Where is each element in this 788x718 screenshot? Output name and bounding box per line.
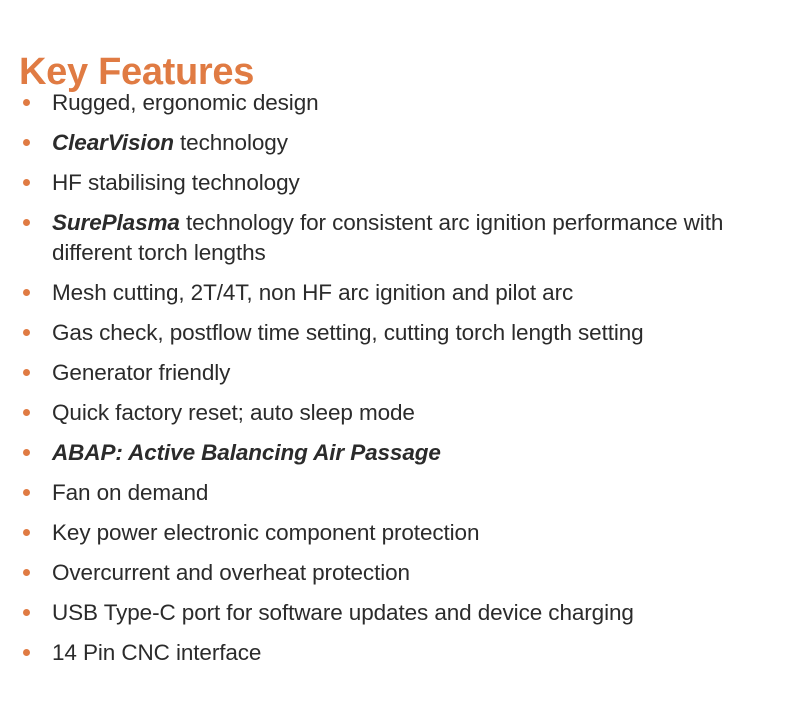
feature-list: Rugged, ergonomic designClearVision tech…	[19, 88, 779, 668]
list-item: Rugged, ergonomic design	[19, 88, 779, 118]
bullet-dot-icon	[23, 409, 30, 416]
list-item-label: ABAP: Active Balancing Air Passage	[52, 438, 779, 468]
list-item-label: HF stabilising technology	[52, 168, 779, 198]
bullet-dot-icon	[23, 449, 30, 456]
list-item-emphasis: SurePlasma	[52, 210, 180, 235]
list-item-label: Overcurrent and overheat protection	[52, 558, 779, 588]
bullet-dot-icon	[23, 569, 30, 576]
list-item: SurePlasma technology for consistent arc…	[19, 208, 779, 268]
bullet-dot-icon	[23, 219, 30, 226]
bullet-dot-icon	[23, 99, 30, 106]
list-item-label: Quick factory reset; auto sleep mode	[52, 398, 779, 428]
list-item: Fan on demand	[19, 478, 779, 508]
bullet-dot-icon	[23, 179, 30, 186]
list-item-label: Rugged, ergonomic design	[52, 88, 779, 118]
list-item: Quick factory reset; auto sleep mode	[19, 398, 779, 428]
list-item-label: Generator friendly	[52, 358, 779, 388]
list-item: 14 Pin CNC interface	[19, 638, 779, 668]
list-item: ABAP: Active Balancing Air Passage	[19, 438, 779, 468]
list-item-label: USB Type-C port for software updates and…	[52, 598, 779, 628]
bullet-dot-icon	[23, 649, 30, 656]
list-item-rest: technology	[174, 130, 288, 155]
list-item-emphasis: ClearVision	[52, 130, 174, 155]
key-features-slide: Key Features Rugged, ergonomic designCle…	[0, 0, 788, 718]
bullet-dot-icon	[23, 289, 30, 296]
list-item: Key power electronic component protectio…	[19, 518, 779, 548]
bullet-dot-icon	[23, 369, 30, 376]
list-item-label: SurePlasma technology for consistent arc…	[52, 208, 779, 268]
list-item: Overcurrent and overheat protection	[19, 558, 779, 588]
bullet-dot-icon	[23, 329, 30, 336]
list-item: Gas check, postflow time setting, cuttin…	[19, 318, 779, 348]
list-item: HF stabilising technology	[19, 168, 779, 198]
list-item-label: Gas check, postflow time setting, cuttin…	[52, 318, 779, 348]
list-item-label: ClearVision technology	[52, 128, 779, 158]
list-item-label: 14 Pin CNC interface	[52, 638, 779, 668]
list-item-label: Mesh cutting, 2T/4T, non HF arc ignition…	[52, 278, 779, 308]
bullet-dot-icon	[23, 489, 30, 496]
bullet-dot-icon	[23, 609, 30, 616]
list-item: ClearVision technology	[19, 128, 779, 158]
list-item: Mesh cutting, 2T/4T, non HF arc ignition…	[19, 278, 779, 308]
list-item-label: Fan on demand	[52, 478, 779, 508]
list-item: Generator friendly	[19, 358, 779, 388]
bullet-dot-icon	[23, 139, 30, 146]
list-item: USB Type-C port for software updates and…	[19, 598, 779, 628]
list-item-label: Key power electronic component protectio…	[52, 518, 779, 548]
bullet-dot-icon	[23, 529, 30, 536]
